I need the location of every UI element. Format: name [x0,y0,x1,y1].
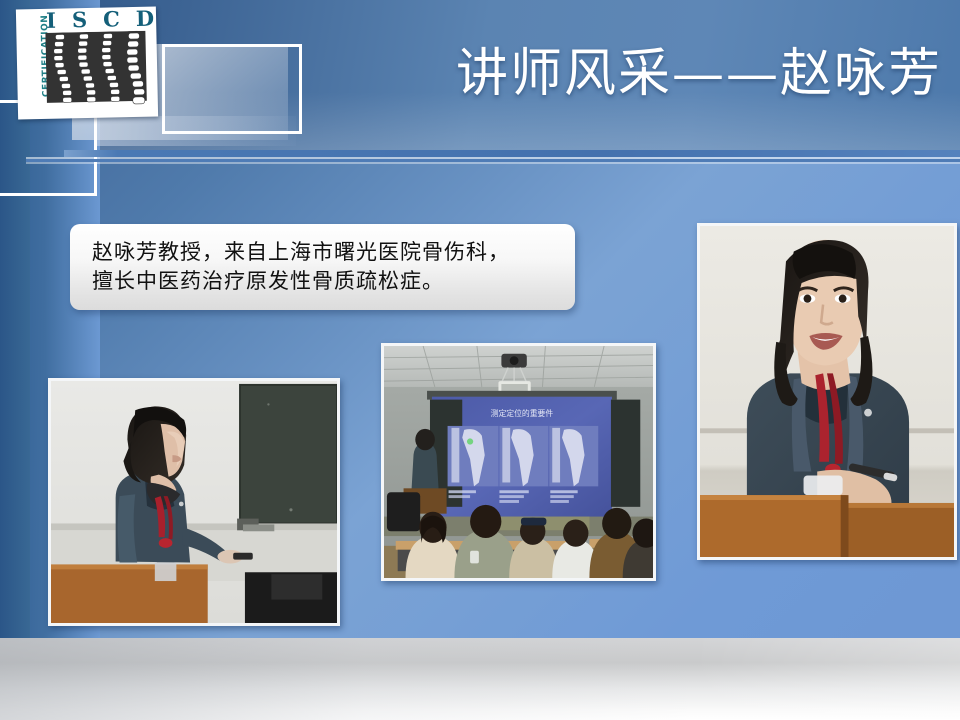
presentation-slide: CERTIFICATION I S C D [0,0,960,720]
speaker-bio-callout: 赵咏芳教授，来自上海市曙光医院骨伤科， 擅长中医药治疗原发性骨质疏松症。 [70,224,575,310]
iscd-logo: CERTIFICATION I S C D [16,7,158,120]
slide-footer-band [0,638,960,720]
photo-right [697,223,957,560]
speaker-bio-text: 赵咏芳教授，来自上海市曙光医院骨伤科， 擅长中医药治疗原发性骨质疏松症。 [92,238,553,296]
decorative-outline-rect-top [162,44,302,134]
logo-letter-s: S [72,9,88,30]
photo-left [48,378,340,626]
lecture-hall-image: 测定定位的重要件 [384,346,653,578]
header-divider-thick [64,150,960,157]
photo-center: 测定定位的重要件 [381,343,656,581]
logo-letter-d: D [136,8,155,29]
screen-title-text: 测定定位的重要件 [491,408,554,418]
podium-presenter-image [51,381,337,623]
logo-letter-c: C [103,8,120,29]
slide-title: 讲师风采——赵咏芳 [456,48,942,100]
spine-icon [45,31,155,111]
logo-letters: I S C D [46,8,154,31]
header-divider-lowlight [26,162,960,164]
speaker-portrait-image [700,226,954,557]
logo-letter-i: I [46,10,56,31]
